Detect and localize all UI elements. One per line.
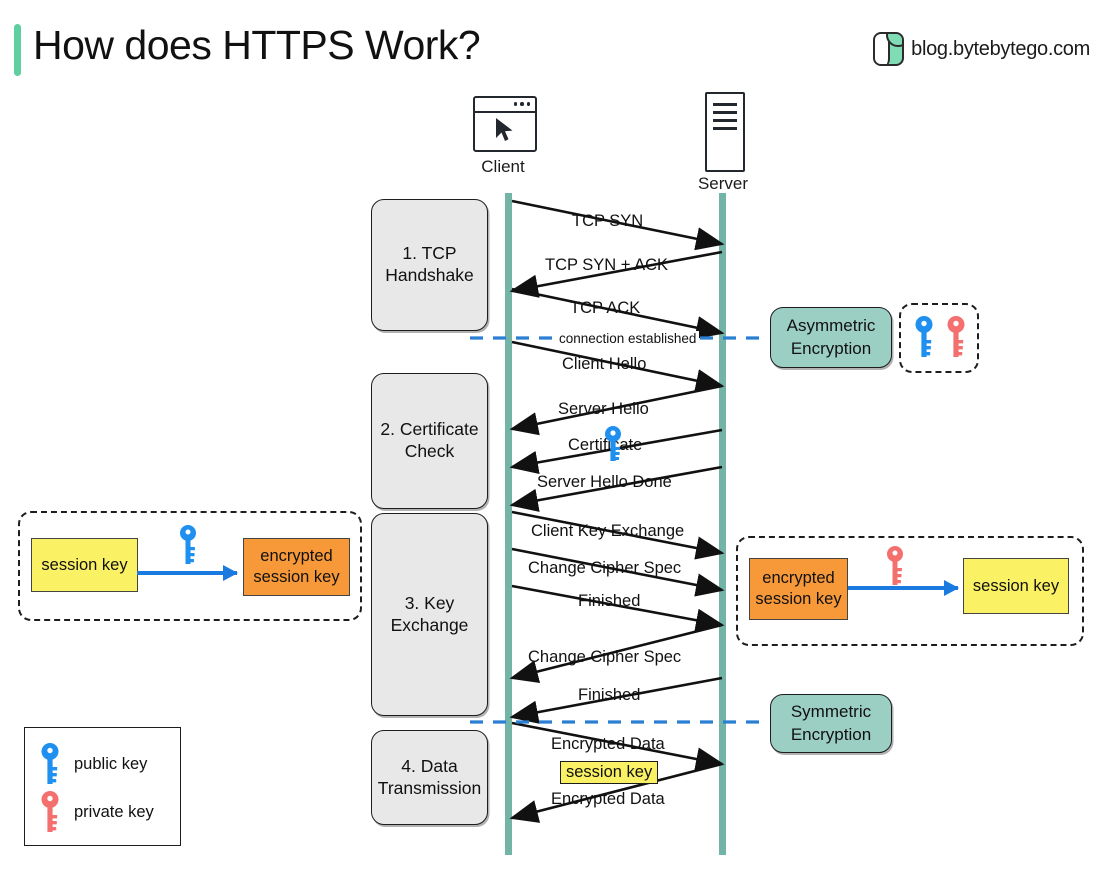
legend-label-private-key: private key xyxy=(74,803,154,822)
brand-label: blog.bytebytego.com xyxy=(911,38,1090,61)
stage-3-line2: Exchange xyxy=(391,615,469,635)
stage-1-line1: 1. TCP xyxy=(402,243,456,263)
private-key-icon xyxy=(945,315,967,359)
symmetric-encryption-box[interactable]: Symmetric Encryption xyxy=(770,694,892,753)
asymmetric-title-line2: Encryption xyxy=(791,339,871,358)
encrypted-session-key-box-client: encrypted session key xyxy=(243,538,350,596)
session-key-box-server-label: session key xyxy=(973,576,1059,597)
encrypt-arrow-client xyxy=(137,571,237,575)
stage-2-line1: 2. Certificate xyxy=(380,419,478,439)
msg-label-encrypted-data-2: Encrypted Data xyxy=(551,790,665,809)
asymmetric-title-line1: Asymmetric xyxy=(787,316,876,335)
server-rack-icon xyxy=(705,92,745,172)
stage-box-tcp-handshake[interactable]: 1. TCP Handshake xyxy=(371,199,488,331)
stage-1-line2: Handshake xyxy=(385,265,474,285)
brand: blog.bytebytego.com xyxy=(873,32,1090,66)
msg-label-change-cipher-spec-2: Change Cipher Spec xyxy=(528,648,681,667)
encrypted-session-key-client-line1: encrypted xyxy=(260,547,332,565)
msg-label-finished-1: Finished xyxy=(578,592,640,611)
public-key-icon xyxy=(39,742,61,786)
msg-label-finished-2: Finished xyxy=(578,686,640,705)
public-key-icon xyxy=(602,425,624,463)
public-key-icon xyxy=(178,524,198,566)
msg-label-tcp-ack: TCP ACK xyxy=(570,299,640,318)
encrypted-session-key-server-line2: session key xyxy=(755,590,841,608)
encrypted-session-key-box-server: encrypted session key xyxy=(749,558,848,620)
stage-box-data-transmission[interactable]: 4. Data Transmission xyxy=(371,730,488,825)
stage-box-key-exchange[interactable]: 3. Key Exchange xyxy=(371,513,488,716)
public-key-icon xyxy=(913,315,935,359)
symmetric-title-line2: Encryption xyxy=(791,725,871,744)
actor-label-server: Server xyxy=(675,174,771,194)
session-key-box-client: session key xyxy=(31,538,138,592)
lifeline-server xyxy=(719,193,726,855)
msg-label-server-hello-done: Server Hello Done xyxy=(537,473,672,492)
symmetric-title-line1: Symmetric xyxy=(791,702,871,721)
msg-label-server-hello: Server Hello xyxy=(558,400,649,419)
key-pair-group xyxy=(899,303,979,373)
browser-dots xyxy=(514,102,531,106)
msg-label-client-hello: Client Hello xyxy=(562,355,646,374)
encrypted-session-key-client-line2: session key xyxy=(253,568,339,586)
private-key-icon xyxy=(885,545,905,587)
separator-label-connection-established: connection established xyxy=(556,331,699,346)
browser-titlebar xyxy=(475,98,535,113)
session-key-box-client-label: session key xyxy=(41,555,127,576)
stage-4-line2: Transmission xyxy=(378,778,481,798)
stage-box-certificate-check[interactable]: 2. Certificate Check xyxy=(371,373,488,509)
legend-item-public-key: public key xyxy=(39,742,147,786)
cursor-icon xyxy=(494,117,518,143)
title-accent-bar xyxy=(14,24,21,76)
encrypted-session-key-server-line1: encrypted xyxy=(762,569,834,587)
msg-label-client-key-exchange: Client Key Exchange xyxy=(531,522,684,541)
actor-label-client: Client xyxy=(455,157,551,177)
session-key-box-server: session key xyxy=(963,558,1069,614)
session-key-chip: session key xyxy=(560,761,658,784)
msg-label-tcp-syn: TCP SYN xyxy=(572,212,643,231)
page-title: How does HTTPS Work? xyxy=(33,22,480,69)
stage-4-line1: 4. Data xyxy=(401,756,457,776)
msg-label-tcp-syn-ack: TCP SYN + ACK xyxy=(545,256,668,275)
browser-window-icon xyxy=(473,96,537,152)
bytebytego-logo-icon xyxy=(873,32,904,66)
legend-item-private-key: private key xyxy=(39,790,154,834)
legend-label-public-key: public key xyxy=(74,755,147,774)
asymmetric-encryption-box[interactable]: Asymmetric Encryption xyxy=(770,307,892,368)
msg-label-change-cipher-spec-1: Change Cipher Spec xyxy=(528,559,681,578)
private-key-icon xyxy=(39,790,61,834)
diagram-canvas: How does HTTPS Work? blog.bytebytego.com… xyxy=(0,0,1100,880)
stage-2-line2: Check xyxy=(405,441,455,461)
legend: public key private key xyxy=(24,727,181,846)
stage-3-line1: 3. Key xyxy=(405,593,455,613)
lifeline-client xyxy=(505,193,512,855)
msg-label-encrypted-data-1: Encrypted Data xyxy=(551,735,665,754)
